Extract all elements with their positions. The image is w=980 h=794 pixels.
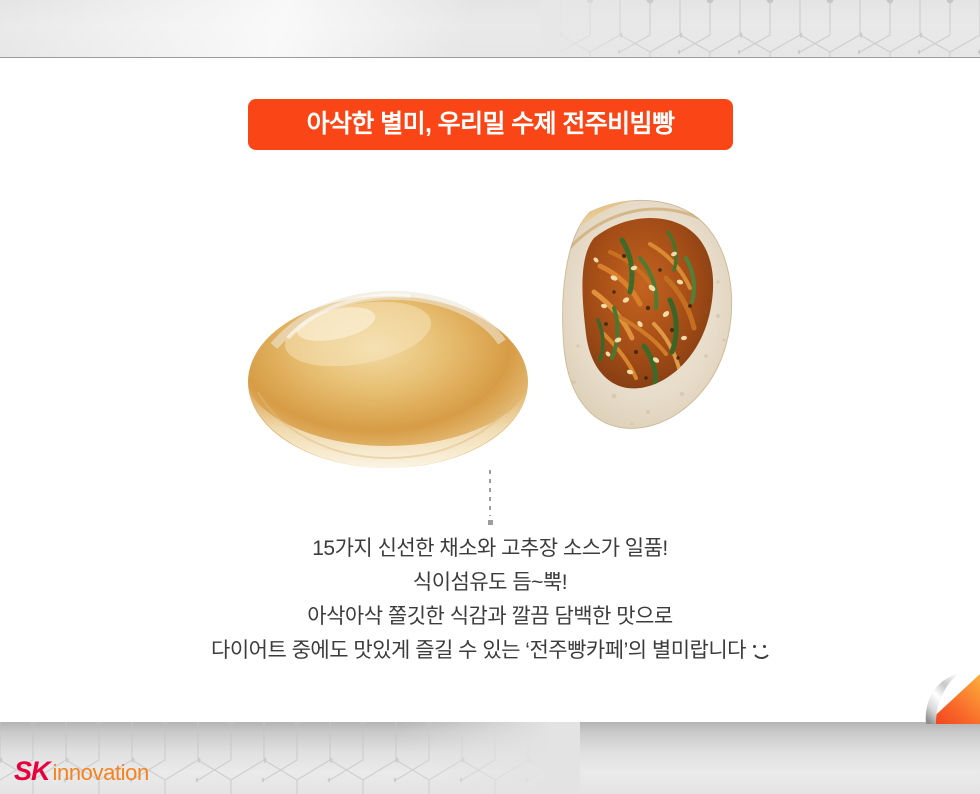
description-line-4: 다이어트 중에도 맛있게 즐길 수 있는 ‘전주빵카페’의 별미랍니다 (0, 634, 980, 668)
header-lattice-pattern (560, 0, 980, 58)
title-banner: 아삭한 별미, 우리밀 수제 전주비빔빵 (248, 99, 733, 150)
halved-bun (548, 196, 740, 428)
connector-dashed-line (489, 470, 491, 516)
smiley-face-icon (750, 641, 769, 660)
dotted-connector (488, 470, 493, 526)
sk-innovation-logo: SK innovation (14, 758, 149, 785)
connector-end-dot (488, 520, 493, 525)
product-photo (240, 196, 740, 472)
whole-bun (248, 292, 528, 468)
page-header (0, 0, 980, 58)
logo-innovation-text: innovation (53, 762, 149, 784)
description-line-1: 15가지 신선한 채소와 고추장 소스가 일품! (0, 532, 980, 566)
page-title: 아삭한 별미, 우리밀 수제 전주비빔빵 (307, 112, 675, 137)
description-line-2: 식이섬유도 듬~뿍! (0, 566, 980, 600)
page-curl-graphic (900, 672, 980, 726)
header-sheen (0, 0, 620, 57)
description-line-3: 아삭아삭 쫄깃한 식감과 깔끔 담백한 맛으로 (0, 600, 980, 634)
page-curl-corner (900, 672, 980, 726)
bread-illustration (240, 196, 740, 472)
description-line-4-text: 다이어트 중에도 맛있게 즐길 수 있는 ‘전주빵카페’의 별미랍니다 (211, 639, 746, 662)
logo-sk-text: SK (14, 758, 50, 785)
description-block: 15가지 신선한 채소와 고추장 소스가 일품! 식이섬유도 듬~뿍! 아삭아삭… (0, 532, 980, 668)
